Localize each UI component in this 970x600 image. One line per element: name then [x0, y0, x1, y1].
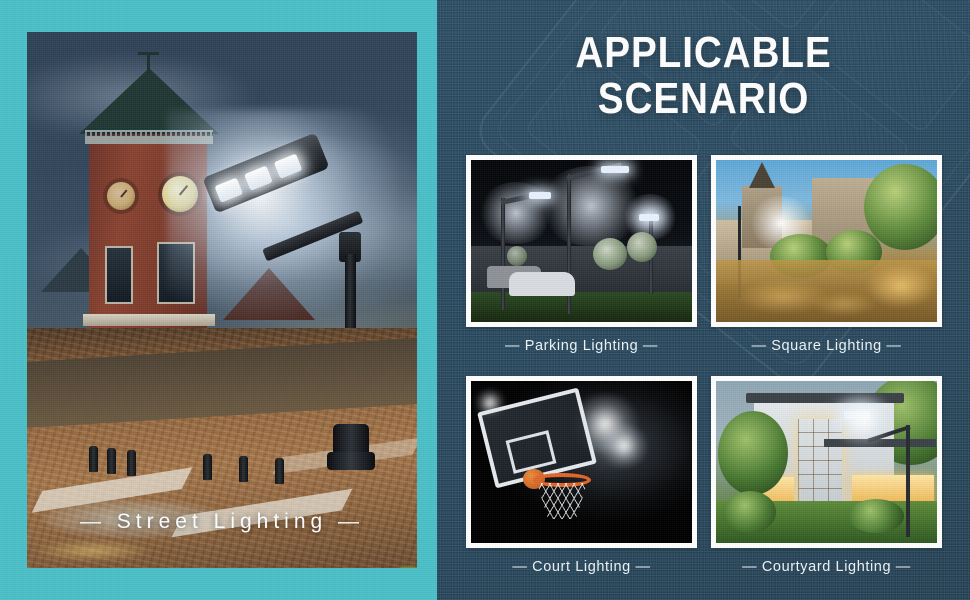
- light-pole: [501, 198, 505, 310]
- clock-face: [103, 178, 139, 214]
- tree: [357, 566, 417, 568]
- scenario-panel: APPLICABLE SCENARIO: [437, 0, 970, 600]
- scenario-caption: — Courtyard Lighting —: [711, 559, 942, 575]
- tree: [507, 246, 527, 266]
- title-line-1: APPLICABLE: [469, 30, 938, 76]
- scenario-row: — Parking Lighting —: [466, 155, 942, 354]
- photo-parking-lighting: [471, 160, 692, 322]
- led-head: [639, 214, 659, 221]
- scenario-caption: — Court Lighting —: [466, 559, 697, 575]
- bollard: [203, 454, 212, 480]
- scenario-caption: — Square Lighting —: [711, 338, 942, 354]
- bollard: [89, 446, 98, 472]
- tower-spire: [749, 162, 775, 188]
- scenario-grid: — Parking Lighting —: [466, 155, 942, 575]
- led-head: [601, 166, 629, 173]
- led-module: [214, 177, 243, 203]
- photo-courtyard-lighting: [716, 381, 937, 543]
- warm-light-reflection: [866, 264, 936, 308]
- scenario-caption: — Parking Lighting —: [466, 338, 697, 354]
- title-line-2: SCENARIO: [469, 76, 938, 122]
- tree: [718, 411, 788, 495]
- photo-square-lighting: [716, 160, 937, 322]
- photo-frame: [711, 376, 942, 548]
- light-glow: [828, 393, 898, 447]
- photo-frame: [466, 155, 697, 327]
- photo-court-lighting: [471, 381, 692, 543]
- lamp-glow: [167, 110, 397, 320]
- tree: [593, 238, 627, 270]
- bollard: [127, 450, 136, 476]
- led-module: [244, 165, 273, 191]
- photo-frame: [466, 376, 697, 548]
- teal-divider: [417, 0, 437, 600]
- scenario-row: — Court Lighting —: [466, 376, 942, 575]
- basketball-net: [537, 483, 587, 519]
- white-car: [509, 272, 575, 296]
- led-module: [274, 153, 303, 179]
- puddle: [33, 540, 153, 562]
- scenario-card-square[interactable]: — Square Lighting —: [711, 155, 942, 354]
- page-title: APPLICABLE SCENARIO: [469, 30, 938, 122]
- shrub: [724, 491, 776, 533]
- tree: [627, 232, 657, 262]
- shrub: [848, 499, 904, 533]
- warm-light-reflection: [812, 292, 876, 316]
- led-head: [529, 192, 551, 199]
- floodlight-glow: [597, 425, 651, 467]
- weather-vane-icon: [147, 54, 150, 74]
- promo-banner: — Street Lighting — APPLICABLE SCENARIO: [0, 0, 970, 600]
- bollard: [239, 456, 248, 482]
- scenario-card-court[interactable]: — Court Lighting —: [466, 376, 697, 575]
- hero-image-street-lighting: — Street Lighting —: [27, 32, 417, 568]
- light-pole: [906, 425, 910, 537]
- scenario-card-parking[interactable]: — Parking Lighting —: [466, 155, 697, 354]
- bollard: [275, 458, 284, 484]
- pole-base: [327, 452, 375, 470]
- bollard: [107, 448, 116, 474]
- photo-frame: [711, 155, 942, 327]
- scenario-card-courtyard[interactable]: — Courtyard Lighting —: [711, 376, 942, 575]
- hero-caption: — Street Lighting —: [27, 510, 417, 534]
- road: [27, 338, 417, 428]
- tower-window: [105, 246, 133, 304]
- watermark-led-cell: [673, 0, 856, 31]
